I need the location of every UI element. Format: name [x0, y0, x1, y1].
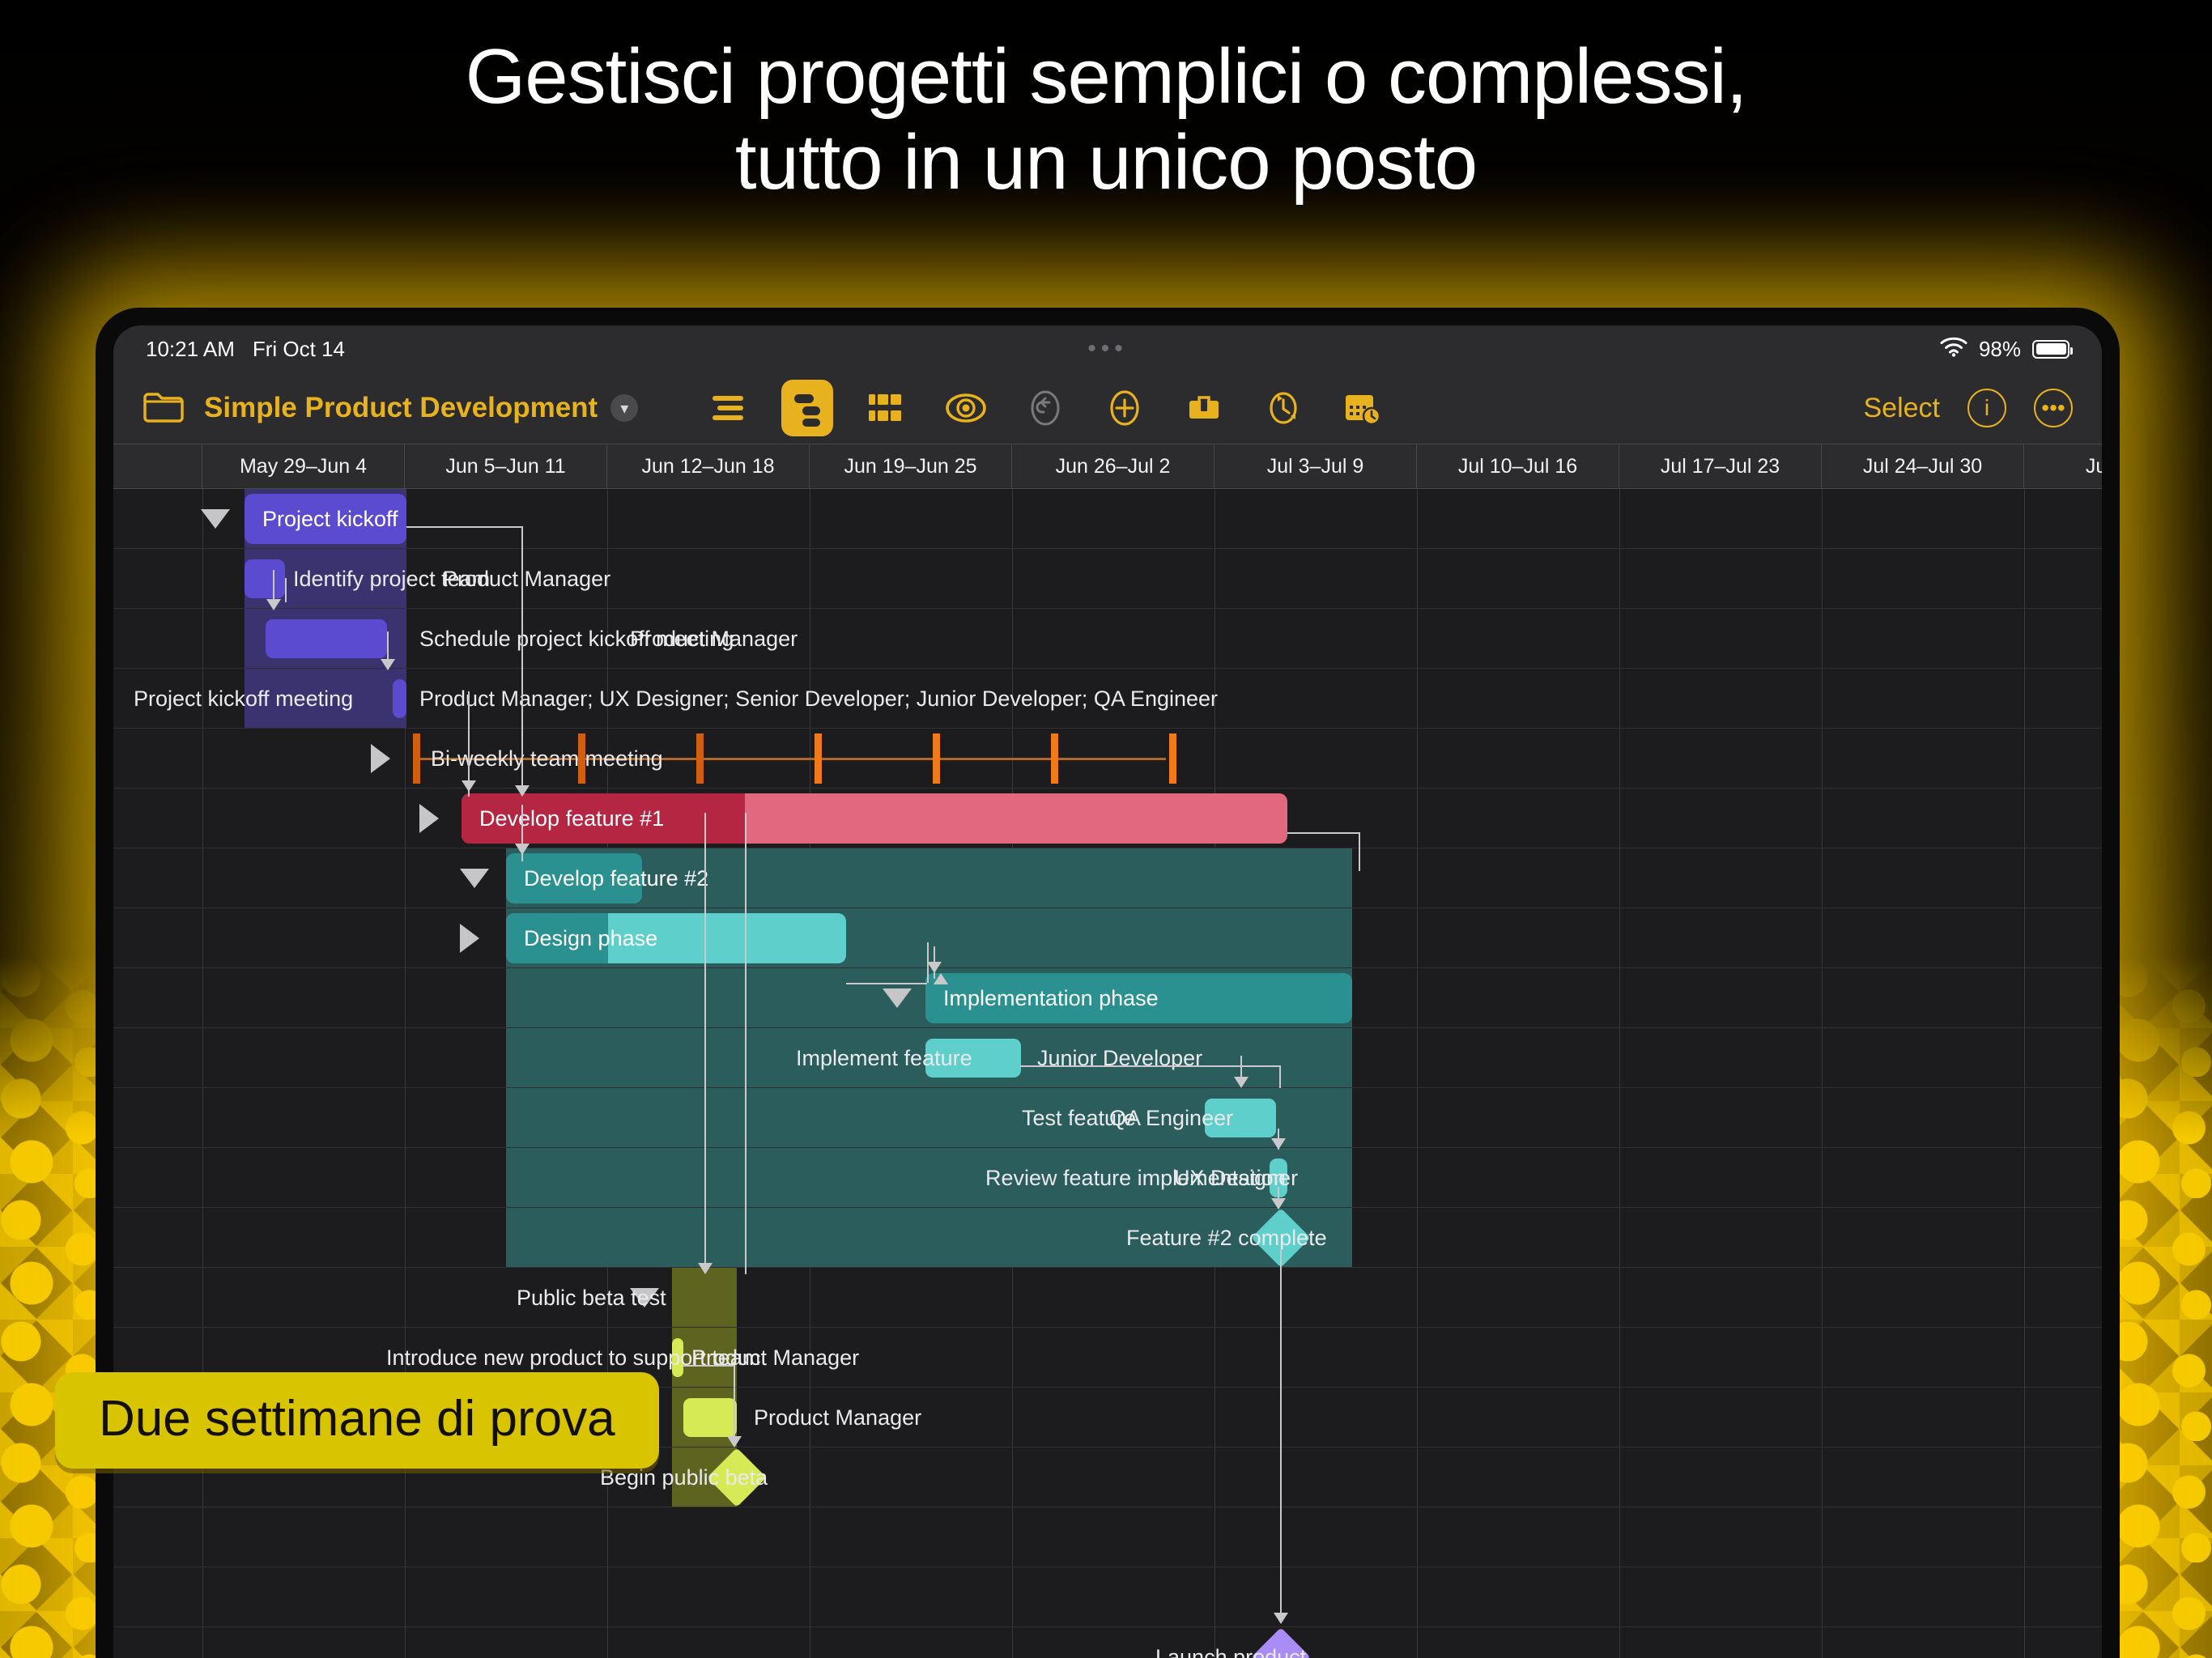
- timeline-gutter: [113, 444, 202, 488]
- info-icon[interactable]: i: [1967, 389, 2006, 427]
- task-resources-project-kickoff-meeting: Product Manager; UX Designer; Senior Dev…: [419, 669, 1218, 729]
- task-resources-schedule-kickoff-meeting: Product Manager: [630, 609, 798, 669]
- toolbar-icon-group: [688, 380, 1402, 436]
- task-bar-project-kickoff[interactable]: Project kickoff: [245, 494, 406, 544]
- chevron-down-icon[interactable]: ▾: [610, 394, 638, 422]
- task-label-implement-feature: Implement feature: [796, 1028, 972, 1088]
- dependency-arrow: [381, 659, 395, 670]
- milestone-tick[interactable]: [413, 733, 420, 784]
- task-resources-introduce-new-product: Product Manager: [691, 1328, 859, 1388]
- milestone-tick[interactable]: [815, 733, 822, 784]
- select-button[interactable]: Select: [1864, 393, 1941, 424]
- timeline-col-3: Jun 19–Jun 25: [810, 444, 1012, 488]
- task-label-public-beta-test: Public beta test: [517, 1268, 666, 1328]
- status-bar: 10:21 AM Fri Oct 14 ••• 98%: [113, 325, 2102, 372]
- dependency-arrow: [515, 844, 530, 855]
- status-time: 10:21 AM: [146, 337, 235, 362]
- eye-view-options-icon[interactable]: [926, 381, 1006, 435]
- task-bar-schedule-kickoff-meeting[interactable]: [266, 619, 387, 658]
- task-label: Develop feature #1: [462, 806, 664, 831]
- dependency-arrow: [515, 785, 530, 797]
- dependency-link: [285, 578, 287, 602]
- disclosure-triangle-develop-feature-2[interactable]: [460, 869, 489, 888]
- task-label: Develop feature #2: [506, 866, 708, 891]
- milestone-tick[interactable]: [1169, 733, 1176, 784]
- timeline-col-8: Jul 24–Jul 30: [1822, 444, 2024, 488]
- history-icon[interactable]: [1244, 381, 1323, 435]
- milestone-tick[interactable]: [1051, 733, 1058, 784]
- task-bar-develop-feature-2[interactable]: Develop feature #2: [506, 853, 642, 903]
- dependency-link: [745, 813, 747, 1274]
- timeline-col-9: Jul 31–A: [2024, 444, 2102, 488]
- resources-icon[interactable]: [1164, 381, 1244, 435]
- task-resources-implement-feature: Junior Developer: [1037, 1028, 1202, 1088]
- battery-icon: [2032, 340, 2069, 359]
- timeline-col-6: Jul 10–Jul 16: [1417, 444, 1619, 488]
- disclosure-triangle-project-kickoff[interactable]: [201, 509, 230, 529]
- dependency-link: [734, 1365, 735, 1443]
- folder-icon[interactable]: [143, 389, 185, 428]
- document-title[interactable]: Simple Product Development: [204, 392, 598, 424]
- gantt-row: Launch product: [113, 1627, 2102, 1658]
- decorative-mosaic-right: [2107, 955, 2212, 1658]
- dependency-arrow: [1274, 1613, 1288, 1624]
- task-resources-test-feature: QA Engineer: [1109, 1088, 1233, 1148]
- timeline-col-1: Jun 5–Jun 11: [405, 444, 607, 488]
- gantt-row: [113, 1567, 2102, 1627]
- task-label-bi-weekly-team-meeting: Bi-weekly team meeting: [431, 729, 663, 789]
- battery-percent: 98%: [1979, 337, 2021, 362]
- timeline-header: May 29–Jun 4 Jun 5–Jun 11 Jun 12–Jun 18 …: [113, 444, 2102, 489]
- dependency-link: [521, 526, 523, 793]
- timeline-col-5: Jul 3–Jul 9: [1214, 444, 1417, 488]
- gantt-row: Design phase: [113, 908, 2102, 968]
- dependency-arrow: [927, 962, 942, 973]
- dependency-arrow: [727, 1436, 742, 1448]
- gantt-row: Project kickoff: [113, 489, 2102, 549]
- toolbar-right-group: Select i •••: [1864, 389, 2074, 427]
- status-date: Fri Oct 14: [253, 337, 345, 362]
- add-icon[interactable]: [1085, 381, 1164, 435]
- multitask-handle[interactable]: •••: [1087, 335, 1128, 363]
- task-label-launch-product: Launch product: [1155, 1627, 1306, 1658]
- task-resources-identify-project-team: Product Manager: [443, 549, 610, 609]
- gantt-chart[interactable]: Project kickoff Identify project team Pr…: [113, 489, 2102, 1658]
- gantt-row: Develop feature #2: [113, 848, 2102, 908]
- task-bar-project-kickoff-meeting[interactable]: [393, 679, 406, 718]
- dependency-link: [683, 1365, 734, 1367]
- gantt-row: Schedule project kickoff meeting Product…: [113, 609, 2102, 669]
- gantt-row: [113, 1507, 2102, 1567]
- dependency-arrow: [1271, 1138, 1286, 1150]
- gantt-view-icon[interactable]: [781, 380, 833, 436]
- dependency-link: [1279, 1065, 1281, 1088]
- task-resources-set-beta-up: Product Manager: [754, 1388, 921, 1448]
- dependency-link: [846, 983, 927, 984]
- task-bar-public-beta-test[interactable]: [672, 1273, 737, 1323]
- timeline-col-7: Jul 17–Jul 23: [1619, 444, 1822, 488]
- disclosure-triangle-design-phase[interactable]: [460, 924, 479, 953]
- milestone-tick[interactable]: [696, 733, 704, 784]
- timeline-col-4: Jun 26–Jul 2: [1012, 444, 1214, 488]
- gantt-row: Develop feature #1: [113, 789, 2102, 848]
- task-label: Project kickoff: [245, 507, 398, 532]
- task-label-project-kickoff-meeting: Project kickoff meeting: [134, 669, 353, 729]
- dependency-link: [1240, 1056, 1242, 1080]
- dependency-link: [704, 813, 706, 1263]
- gantt-row: Test feature QA Engineer: [113, 1088, 2102, 1148]
- decorative-mosaic-left: [0, 955, 105, 1658]
- gantt-row: Implement feature Junior Developer: [113, 1028, 2102, 1088]
- gantt-row: Public beta test: [113, 1268, 2102, 1328]
- undo-icon[interactable]: [1006, 381, 1085, 435]
- dependency-arrow: [934, 973, 948, 984]
- outline-view-icon[interactable]: [688, 381, 768, 435]
- wifi-icon: [1940, 336, 1967, 363]
- disclosure-triangle-implementation-phase[interactable]: [883, 988, 912, 1008]
- gantt-row: Identify project team Product Manager: [113, 549, 2102, 609]
- task-progress-design-phase: Design phase: [506, 913, 608, 963]
- timeline-col-2: Jun 12–Jun 18: [607, 444, 810, 488]
- task-bar-set-beta-up[interactable]: [683, 1398, 737, 1437]
- dependency-arrow: [462, 780, 476, 792]
- task-bar-identify-project-team[interactable]: [245, 559, 285, 598]
- gantt-row: Project kickoff meeting Product Manager;…: [113, 669, 2102, 729]
- dependency-link: [1280, 1250, 1282, 1621]
- dependency-link: [406, 526, 521, 528]
- dependency-arrow: [698, 1263, 713, 1274]
- disclosure-triangle-develop-feature-1[interactable]: [419, 804, 439, 833]
- milestone-tick[interactable]: [933, 733, 940, 784]
- calendar-schedule-icon[interactable]: [1323, 381, 1402, 435]
- task-bar-implementation-phase[interactable]: Implementation phase: [925, 973, 1352, 1023]
- task-label: Design phase: [506, 926, 657, 951]
- gantt-row: Implementation phase: [113, 968, 2102, 1028]
- task-label-feature-2-complete: Feature #2 complete: [1126, 1208, 1327, 1268]
- gantt-row: Bi-weekly team meeting: [113, 729, 2102, 789]
- more-options-icon[interactable]: •••: [2034, 389, 2073, 427]
- dependency-arrow: [266, 599, 281, 610]
- network-diagram-view-icon[interactable]: [847, 381, 926, 435]
- headline-line-1: Gestisci progetti semplici o complessi,: [0, 34, 2212, 120]
- promo-headline: Gestisci progetti semplici o complessi, …: [0, 34, 2212, 205]
- dependency-arrow: [1271, 1198, 1286, 1209]
- dependency-link: [1287, 832, 1360, 834]
- headline-line-2: tutto in un unico posto: [0, 120, 2212, 206]
- disclosure-triangle-bi-weekly[interactable]: [371, 744, 390, 773]
- task-label: Implementation phase: [925, 986, 1159, 1011]
- gantt-row: Review feature implementation UX Designe…: [113, 1148, 2102, 1208]
- promo-trial-pill[interactable]: Due settimane di prova: [55, 1372, 659, 1469]
- app-toolbar: Simple Product Development ▾: [113, 372, 2102, 444]
- dependency-link: [1359, 832, 1360, 871]
- timeline-col-0: May 29–Jun 4: [202, 444, 405, 488]
- gantt-row: Feature #2 complete: [113, 1208, 2102, 1268]
- task-progress-develop-feature-1: Develop feature #1: [462, 793, 745, 844]
